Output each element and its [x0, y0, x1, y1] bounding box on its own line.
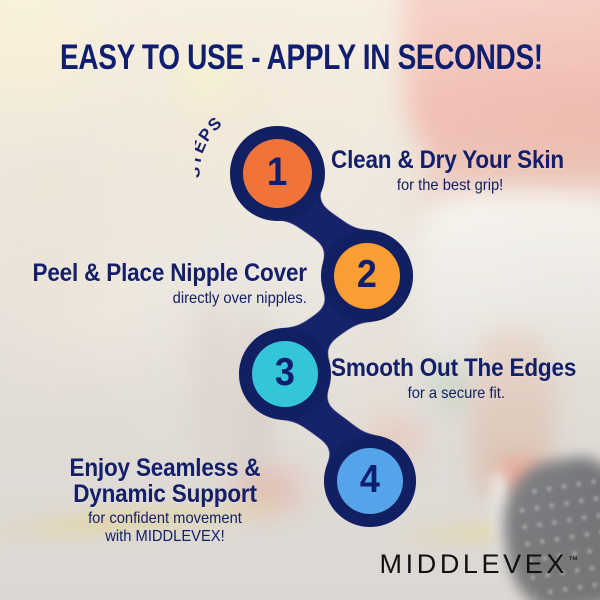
step-subtext-4-line1: for confident movement	[13, 510, 317, 528]
step-number-2: 2	[357, 253, 377, 297]
step-node-3[interactable]: 3	[252, 341, 318, 407]
step-text-1: Clean & Dry Your Skin for the best grip!	[331, 148, 590, 194]
step-number-1: 1	[267, 150, 287, 195]
step-subtext-3: for a secure fit.	[331, 385, 582, 403]
step-text-3: Smooth Out The Edges for a secure fit.	[331, 356, 600, 402]
step-heading-3: Smooth Out The Edges	[331, 356, 576, 382]
step-heading-2: Peel & Place Nipple Cover	[33, 261, 307, 287]
step-node-1[interactable]: 1	[243, 139, 312, 208]
step-subtext-2: directly over nipples.	[27, 290, 307, 308]
step-number-3: 3	[275, 351, 295, 395]
step-subtext-1: for the best grip!	[331, 177, 569, 195]
step-node-4[interactable]: 4	[337, 448, 403, 514]
infographic-poster: EASY TO USE - APPLY IN SECONDS! STEPS 1	[0, 0, 600, 600]
steps-arc-text: STEPS	[195, 113, 226, 179]
step-heading-4-line2: Dynamic Support	[17, 482, 314, 508]
step-subtext-4-line2: with MIDDLEVEX!	[13, 528, 317, 546]
step-heading-1: Clean & Dry Your Skin	[331, 148, 564, 174]
step-text-4: Enjoy Seamless & Dynamic Support for con…	[0, 456, 330, 546]
brand-name: MIDDLEVEX	[380, 549, 568, 579]
trademark-symbol: ™	[568, 555, 578, 566]
brand-logo: MIDDLEVEX™	[380, 549, 578, 580]
step-text-2: Peel & Place Nipple Cover directly over …	[2, 261, 307, 307]
step-node-2[interactable]: 2	[334, 243, 400, 309]
step-heading-4-line1: Enjoy Seamless &	[17, 456, 314, 482]
step-number-4: 4	[360, 458, 380, 502]
